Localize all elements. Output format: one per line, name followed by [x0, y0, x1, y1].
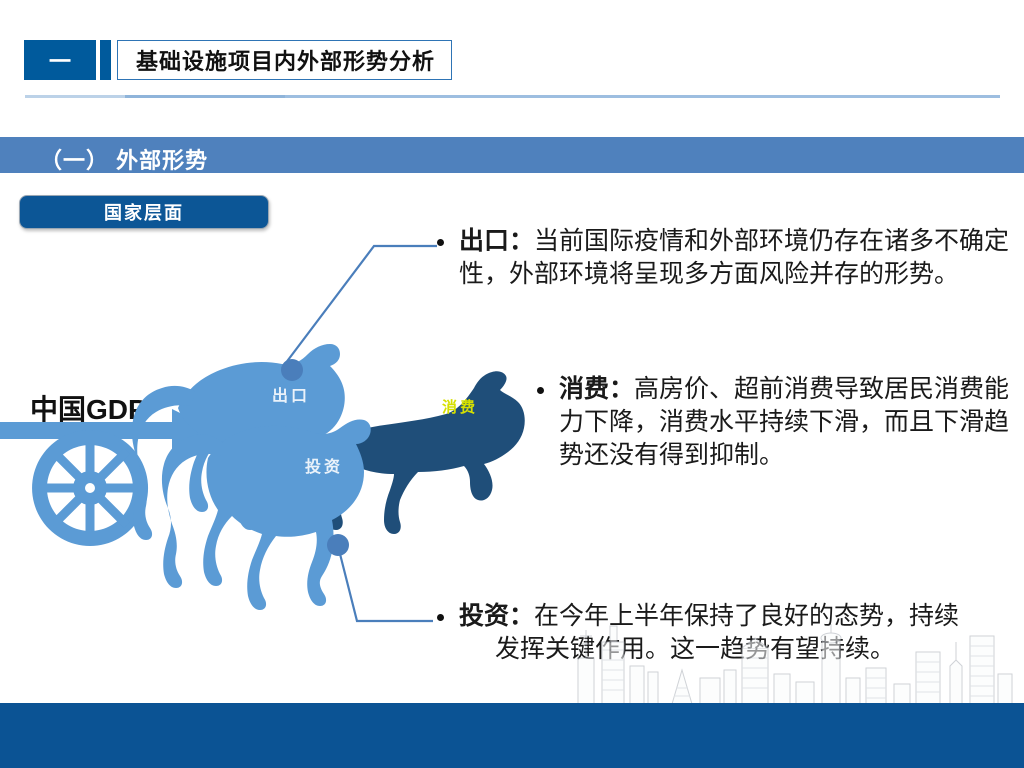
city-skyline-watermark [560, 612, 1020, 704]
bullet-export: 出口：当前国际疫情和外部环境仍存在诸多不确定性，外部环境将呈现多方面风险并存的形… [437, 225, 1017, 291]
bullet-export-body: 当前国际疫情和外部环境仍存在诸多不确定性，外部环境将呈现多方面风险并存的形势。 [459, 227, 1009, 288]
bullet-export-label: 出口： [459, 227, 534, 255]
national-level-pill-label: 国家层面 [104, 199, 184, 225]
bullet-marker [437, 239, 444, 246]
header-number-text: 一 [49, 44, 71, 76]
bullet-consumption-label: 消费： [559, 375, 634, 403]
cart-wheel-icon [32, 430, 148, 546]
bullet-investment-label: 投资： [459, 602, 534, 630]
header-divider [25, 95, 1000, 98]
bullet-marker [437, 614, 444, 621]
slide-canvas: 一 基础设施项目内外部形势分析 （一） 外部形势 国家层面 中国GDP [0, 0, 1024, 768]
horse-investment [162, 419, 371, 610]
horse-label-investment: 投资 [305, 453, 343, 477]
gdp-horses-illustration [0, 330, 560, 610]
section-band-title: （一） 外部形势 [40, 143, 208, 175]
header-title-box: 基础设施项目内外部形势分析 [117, 40, 452, 80]
bullet-marker [537, 387, 544, 394]
page-title: 基础设施项目内外部形势分析 [136, 44, 435, 76]
bullet-consumption-text: 消费：高房价、超前消费导致居民消费能力下降，消费水平持续下滑，而且下滑趋势还没有… [559, 373, 1022, 472]
bullet-export-text: 出口：当前国际疫情和外部环境仍存在诸多不确定性，外部环境将呈现多方面风险并存的形… [459, 225, 1017, 291]
national-level-pill: 国家层面 [19, 195, 269, 229]
horse-label-export: 出口 [272, 382, 310, 406]
header-accent-bar [100, 40, 111, 80]
header-number-badge: 一 [24, 40, 96, 80]
horse-label-consumption: 消费 [442, 396, 478, 417]
footer-bar [0, 703, 1024, 768]
bullet-consumption: 消费：高房价、超前消费导致居民消费能力下降，消费水平持续下滑，而且下滑趋势还没有… [537, 373, 1022, 472]
slide-header: 一 基础设施项目内外部形势分析 [24, 40, 452, 80]
